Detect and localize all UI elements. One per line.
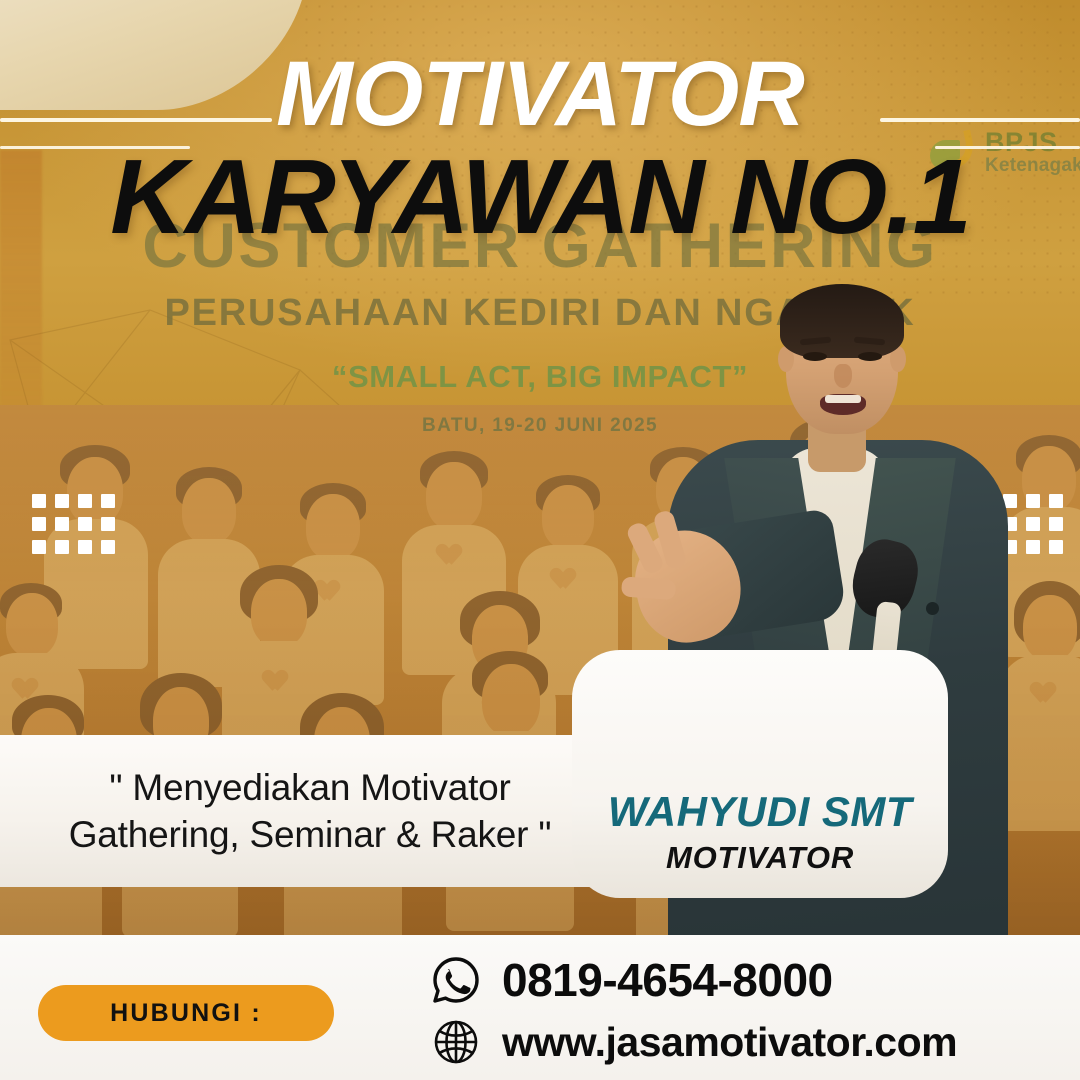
speaker-name: WAHYUDI SMT [608,790,912,834]
phone-contact-row[interactable]: 0819-4654-8000 [432,949,957,1011]
website-contact-row[interactable]: www.jasamotivator.com [432,1011,957,1073]
contact-footer: HUBUNGI : 0819-4654-8000 [0,935,1080,1080]
headline-line-2: KARYAWAN NO.1 [0,144,1080,250]
tagline-quote-text: " Menyediakan Motivator Gathering, Semin… [0,764,620,859]
tagline-quote-bar: " Menyediakan Motivator Gathering, Semin… [0,735,620,887]
headline-line-1: MOTIVATOR [0,48,1080,140]
whatsapp-icon [432,956,480,1004]
dot-grid-left [32,494,115,554]
hubungi-button[interactable]: HUBUNGI : [38,985,334,1041]
hubungi-button-label: HUBUNGI : [110,999,262,1028]
globe-icon [432,1018,480,1066]
promotional-poster: CUSTOMER GATHERING PERUSAHAAN KEDIRI DAN… [0,0,1080,1080]
speaker-name-card: WAHYUDI SMT MOTIVATOR [572,650,948,898]
phone-number: 0819-4654-8000 [502,953,833,1007]
website-url: www.jasamotivator.com [502,1019,957,1066]
contact-details: 0819-4654-8000 www.jasamotivator.com [432,949,957,1073]
poster-headline: MOTIVATOR KARYAWAN NO.1 [0,48,1080,250]
speaker-role: MOTIVATOR [666,840,854,876]
